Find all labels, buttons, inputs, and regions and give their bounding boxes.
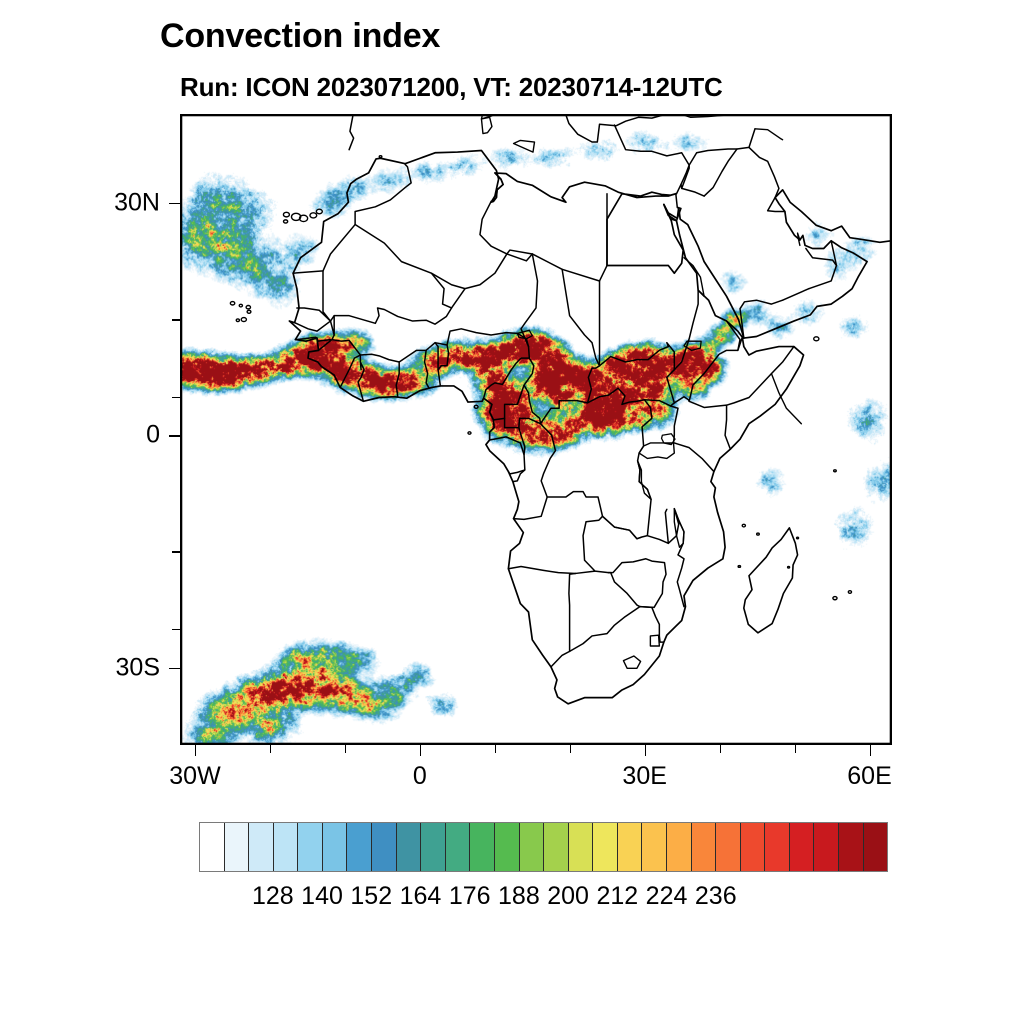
y-tick-0 [169,203,180,204]
colorbar-cell-21 [716,823,741,871]
run-valid-time-subtitle: Run: ICON 2023071200, VT: 20230714-12UTC [180,72,723,102]
y-tick-1 [172,319,180,320]
x-tick-6 [645,745,646,756]
colorbar-cell-24 [790,823,815,871]
colorbar-label-224: 224 [646,884,688,909]
x-tick-1 [270,745,271,753]
colorbar-label-176: 176 [449,884,491,909]
colorbar-label-200: 200 [547,884,589,909]
x-tick-7 [720,745,721,753]
colorbar-cell-0 [200,823,225,871]
colorbar-cell-2 [249,823,274,871]
colorbar-cell-6 [347,823,372,871]
colorbar-cell-26 [839,823,864,871]
x-tick-0 [195,745,196,756]
colorbar-cell-20 [692,823,717,871]
colorbar-label-188: 188 [498,884,540,909]
page-title: Convection index [160,16,440,56]
y-axis-label-0: 0 [0,423,160,448]
colorbar-cell-22 [741,823,766,871]
x-tick-5 [570,745,571,753]
colorbar-label-128: 128 [252,884,294,909]
colorbar-cell-15 [569,823,594,871]
y-tick-5 [172,629,180,630]
colorbar-cell-23 [765,823,790,871]
colorbar-cell-4 [298,823,323,871]
colorbar-cell-1 [225,823,250,871]
colorbar-cell-3 [274,823,299,871]
x-tick-3 [420,745,421,756]
colorbar-label-236: 236 [695,884,737,909]
colorbar-cell-7 [372,823,397,871]
colorbar-cell-8 [397,823,422,871]
x-tick-8 [795,745,796,753]
colorbar-cell-11 [470,823,495,871]
colorbar-cells [199,822,888,872]
x-axis-label-30E: 30E [622,764,666,789]
colorbar-cell-5 [323,823,348,871]
colorbar-cell-13 [520,823,545,871]
x-axis-label-60E: 60E [847,764,891,789]
y-tick-6 [169,668,180,669]
x-axis-label-30W: 30W [169,764,220,789]
colorbar-cell-18 [642,823,667,871]
y-tick-4 [172,551,180,552]
colorbar-label-140: 140 [301,884,343,909]
x-tick-9 [870,745,871,756]
colorbar-cell-14 [544,823,569,871]
x-tick-2 [345,745,346,753]
colorbar-cell-19 [667,823,692,871]
map-plot-area [180,114,892,745]
convection-index-figure: Convection index Run: ICON 2023071200, V… [0,0,1024,1024]
colorbar-label-152: 152 [350,884,392,909]
x-tick-4 [495,745,496,753]
colorbar-cell-17 [618,823,643,871]
colorbar-cell-9 [421,823,446,871]
y-axis-label-30S: 30S [0,655,160,680]
colorbar-label-164: 164 [400,884,442,909]
colorbar-cell-27 [864,823,888,871]
y-tick-2 [172,397,180,398]
y-axis-label-30N: 30N [0,191,160,216]
colorbar [199,822,888,872]
colorbar-cell-16 [593,823,618,871]
x-axis-label-0: 0 [413,764,427,789]
colorbar-cell-10 [446,823,471,871]
coastline-border-overlay [181,115,891,744]
y-tick-3 [169,435,180,436]
colorbar-cell-12 [495,823,520,871]
colorbar-label-212: 212 [596,884,638,909]
colorbar-cell-25 [814,823,839,871]
